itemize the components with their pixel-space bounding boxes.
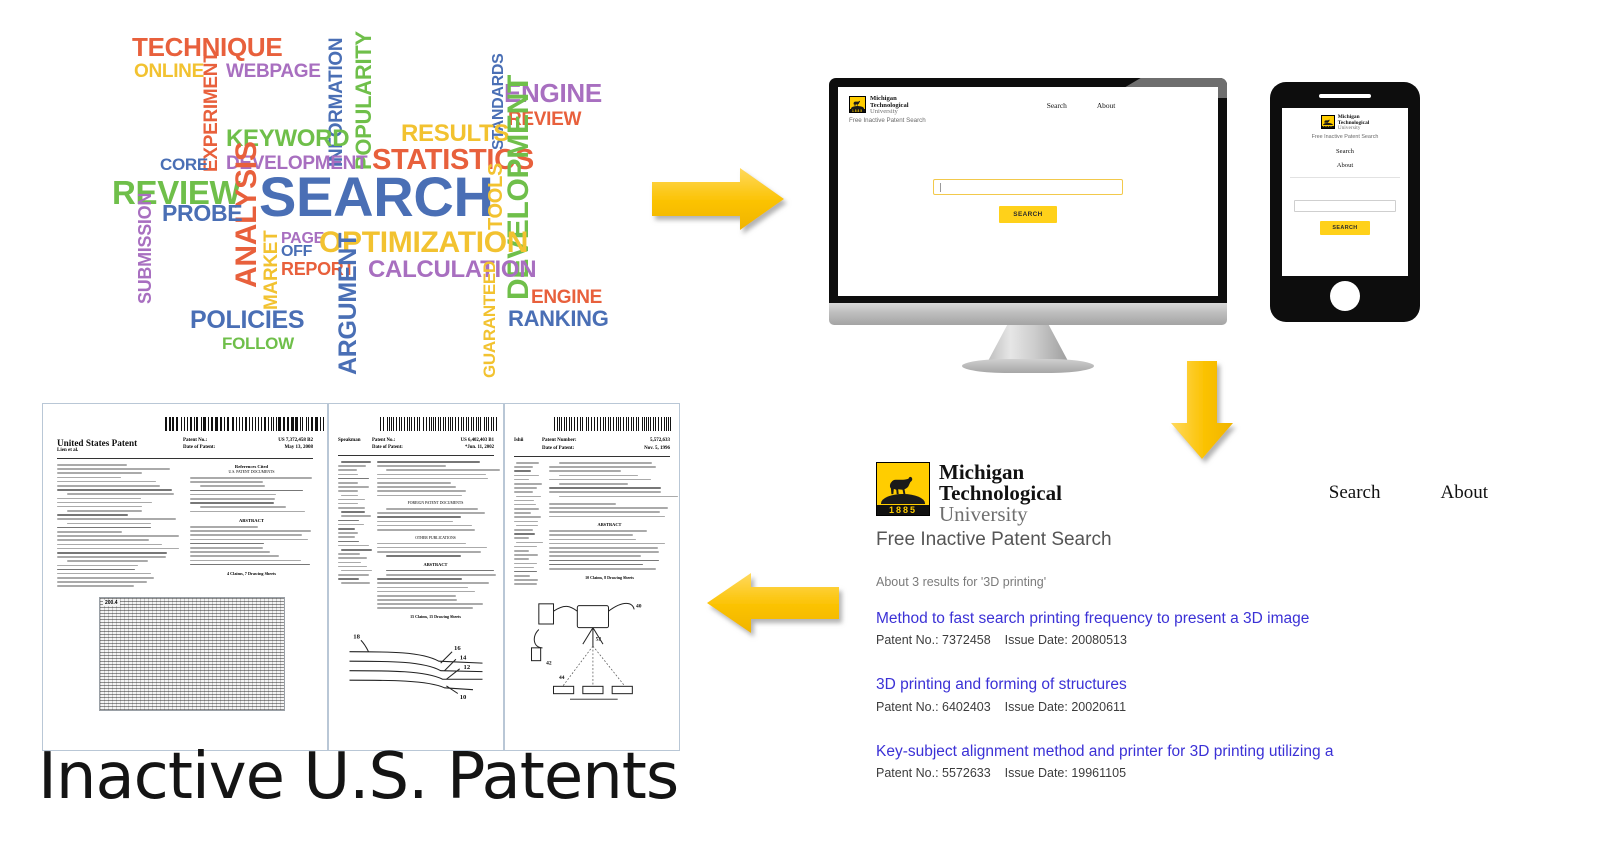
results-tagline: Free Inactive Patent Search	[876, 529, 1112, 551]
divider	[1290, 177, 1400, 178]
word-cloud-term: MARKET	[262, 231, 281, 310]
svg-text:18: 18	[353, 633, 360, 640]
refs-sub: OTHER PUBLICATIONS	[377, 536, 494, 540]
svg-text:44: 44	[559, 675, 565, 681]
abstract-heading: ABSTRACT	[549, 522, 670, 527]
doc-date-value: Nov. 5, 1996	[644, 446, 670, 451]
word-cloud-term: FOLLOW	[222, 335, 294, 352]
svg-text:16: 16	[454, 645, 461, 652]
result-meta: Patent No.: 7372458 Issue Date: 20080513	[876, 633, 1516, 647]
brand-line-3: University	[1338, 126, 1370, 132]
doc-right-column: ABSTRACT 10 Claims, 8 Drawing Sheets	[549, 462, 670, 585]
overview-diagram: TECHNIQUEONLINEWEBPAGEEXPERIMENTINFORMAT…	[0, 0, 1620, 842]
patent-document-7372458: United States Patent Lien et al. Patent …	[42, 403, 328, 751]
result-item: Method to fast search printing frequency…	[876, 609, 1516, 647]
monitor-neck	[988, 325, 1068, 361]
abstract-rows	[377, 570, 494, 609]
page-caption: Inactive U.S. Patents	[38, 740, 678, 814]
doc-right-column: FOREIGN PATENT DOCUMENTS OTHER PUBLICATI…	[377, 461, 494, 619]
doc-left-column	[57, 464, 180, 587]
doc-right-column: References Cited U.S. PATENT DOCUMENTS A…	[190, 464, 313, 587]
result-title-link[interactable]: 3D printing and forming of structures	[876, 675, 1516, 694]
result-item: 3D printing and forming of structures Pa…	[876, 675, 1516, 713]
refs-rows	[377, 461, 494, 496]
arrow-left-results-to-patents	[707, 573, 839, 633]
patent-figure: 200.4	[99, 597, 285, 711]
monitor-screen: 1885 Michigan Technological University F…	[838, 87, 1218, 296]
doc-heading: United States Patent	[57, 438, 183, 448]
svg-text:10: 10	[460, 694, 467, 701]
mobile-search-input[interactable]	[1294, 200, 1396, 212]
refs-heading: References Cited	[190, 464, 313, 469]
doc-date-label: Date of Patent:	[542, 446, 574, 451]
result-item: Key-subject alignment method and printer…	[876, 742, 1516, 780]
monitor-base	[829, 303, 1227, 325]
brand-line-3: University	[939, 504, 1062, 525]
barcode	[380, 417, 498, 431]
phone-screen: 1885 Michigan Technological University F…	[1282, 108, 1408, 276]
desktop-monitor-mockup: 1885 Michigan Technological University F…	[829, 78, 1227, 356]
desktop-tagline: Free Inactive Patent Search	[849, 117, 926, 124]
refs-rows	[549, 462, 670, 497]
refs-heading: FOREIGN PATENT DOCUMENTS	[377, 501, 494, 505]
barcode	[554, 417, 672, 431]
abstract-heading: ABSTRACT	[377, 562, 494, 567]
other-rows	[377, 543, 494, 557]
doc-date-value: May 13, 2008	[285, 445, 313, 450]
word-cloud-term: CORE	[160, 156, 208, 173]
doc-date-label: Date of Patent:	[183, 445, 215, 450]
desktop-search-input[interactable]	[933, 179, 1123, 195]
word-cloud-term: RANKING	[508, 308, 609, 330]
word-cloud-term: EXPERIMENT	[202, 51, 221, 172]
mobile-search-button[interactable]: SEARCH	[1320, 221, 1369, 235]
examiner-rows	[549, 503, 670, 517]
word-cloud-term: ONLINE	[134, 62, 204, 81]
patent-no-label: Patent No.:	[876, 700, 939, 714]
nav-about[interactable]: About	[1441, 482, 1489, 504]
doc-left-column	[338, 461, 370, 619]
issue-date-label: Issue Date:	[1005, 700, 1068, 714]
word-cloud-term: POLICIES	[190, 308, 304, 333]
brand-line-3: University	[870, 109, 909, 116]
word-cloud-term: ENGINE	[531, 288, 602, 307]
phone-home-button[interactable]	[1330, 281, 1360, 311]
patent-figure: 4052 4244	[514, 591, 670, 701]
result-title-link[interactable]: Method to fast search printing frequency…	[876, 609, 1516, 628]
monitor-foot	[962, 359, 1094, 373]
logo-year: 1885	[877, 505, 929, 515]
doc-patentno-value: US 6,402,403 B1	[461, 438, 494, 443]
results-count: About 3 results for '3D printing'	[876, 575, 1516, 589]
result-meta: Patent No.: 6402403 Issue Date: 20020611	[876, 700, 1516, 714]
patent-no-value: 6402403	[942, 700, 991, 714]
nav-about[interactable]: About	[1282, 162, 1408, 169]
desktop-search-button[interactable]: SEARCH	[999, 206, 1056, 223]
issue-date-label: Issue Date:	[1005, 766, 1068, 780]
svg-text:12: 12	[464, 664, 471, 671]
abstract-heading: ABSTRACT	[190, 518, 313, 523]
arrow-right-cloud-to-site	[652, 168, 784, 230]
desktop-brand-block: 1885 Michigan Technological University F…	[849, 96, 926, 124]
refs-sub: U.S. PATENT DOCUMENTS	[190, 470, 313, 474]
word-cloud-image: TECHNIQUEONLINEWEBPAGEEXPERIMENTINFORMAT…	[104, 30, 604, 380]
doc-inventor: Speakman	[338, 438, 372, 443]
results-brand-block: 1885 Michigan Technological University F…	[876, 462, 1112, 551]
mobile-tagline: Free Inactive Patent Search	[1282, 134, 1408, 140]
result-title-link[interactable]: Key-subject alignment method and printer…	[876, 742, 1516, 761]
word-cloud-term: RESULTS	[401, 122, 509, 146]
patent-no-label: Patent No.:	[876, 633, 939, 647]
doc-date-value: *Jun. 11, 2002	[465, 445, 494, 450]
phone-speaker	[1319, 94, 1371, 98]
issue-date-value: 20080513	[1071, 633, 1127, 647]
husky-logo-icon: 1885	[1321, 115, 1335, 129]
issue-date-label: Issue Date:	[1005, 633, 1068, 647]
nav-search[interactable]: Search	[1047, 101, 1067, 110]
brand-line-1: Michigan	[939, 462, 1062, 483]
issue-date-value: 19961105	[1071, 766, 1126, 780]
desktop-site-page: 1885 Michigan Technological University F…	[838, 87, 1218, 296]
doc-patentno-label: Patent Number:	[542, 438, 577, 443]
nav-search[interactable]: Search	[1282, 148, 1408, 155]
doc-inventor: Ishii	[514, 438, 542, 443]
patent-no-value: 7372458	[942, 633, 991, 647]
mobile-phone-mockup: 1885 Michigan Technological University F…	[1270, 82, 1420, 322]
nav-about[interactable]: About	[1097, 101, 1115, 110]
brand-line-2: Technological	[939, 483, 1062, 504]
text-caret	[940, 183, 941, 192]
result-meta: Patent No.: 5572633 Issue Date: 19961105	[876, 766, 1516, 780]
doc-patentno-label: Patent No.:	[372, 438, 395, 443]
doc-inventor: Lien et al.	[57, 448, 183, 453]
word-cloud-term: OFF	[281, 244, 312, 260]
claims-line: 4 Claims, 7 Drawing Sheets	[190, 571, 313, 576]
arrow-down-site-to-results	[1171, 361, 1233, 459]
issue-date-value: 20020611	[1071, 700, 1126, 714]
search-results-page: 1885 Michigan Technological University F…	[876, 462, 1516, 782]
foreign-rows	[377, 508, 494, 531]
svg-text:42: 42	[546, 660, 552, 666]
patent-no-label: Patent No.:	[876, 766, 939, 780]
refs-rows	[190, 477, 313, 512]
doc-patentno-value: 5,572,633	[650, 438, 670, 443]
word-cloud-term: GUARANTEED	[481, 261, 498, 378]
monitor-bezel: 1885 Michigan Technological University F…	[829, 78, 1227, 303]
word-cloud-term: WEBPAGE	[226, 62, 321, 81]
patent-document-5572633: Ishii Patent Number: 5,572,633 Date of P…	[504, 403, 680, 751]
claims-line: 15 Claims, 15 Drawing Sheets	[377, 614, 494, 619]
word-cloud-term: ARGUMENT	[336, 233, 361, 375]
claims-line: 10 Claims, 8 Drawing Sheets	[549, 575, 670, 580]
doc-patentno-value: US 7,372,458 B2	[278, 438, 313, 443]
word-cloud-term: SEARCH	[259, 169, 494, 225]
patent-documents-group: United States Patent Lien et al. Patent …	[42, 403, 680, 751]
patent-document-6402403: Speakman Patent No.: US 6,402,403 B1 Dat…	[328, 403, 504, 751]
doc-patentno-label: Patent No.:	[183, 438, 207, 443]
abstract-rows	[190, 526, 313, 565]
abstract-rows	[549, 530, 670, 569]
patent-figure: 1816 1412 10	[338, 627, 494, 703]
barcode	[165, 417, 325, 431]
patent-no-value: 5572633	[942, 766, 991, 780]
husky-logo-icon: 1885	[849, 96, 866, 113]
word-cloud-term: PROBE	[162, 202, 242, 225]
husky-logo-icon: 1885	[876, 462, 930, 516]
svg-text:40: 40	[636, 604, 642, 610]
mobile-site-page: 1885 Michigan Technological University F…	[1282, 108, 1408, 276]
word-cloud-term: CALCULATION	[368, 258, 536, 282]
svg-text:52: 52	[596, 637, 602, 643]
word-cloud-term: SUBMISSION	[136, 193, 154, 304]
svg-text:14: 14	[460, 654, 467, 661]
nav-search[interactable]: Search	[1329, 482, 1381, 504]
doc-left-column	[514, 462, 542, 585]
doc-date-label: Date of Patent:	[372, 445, 403, 450]
